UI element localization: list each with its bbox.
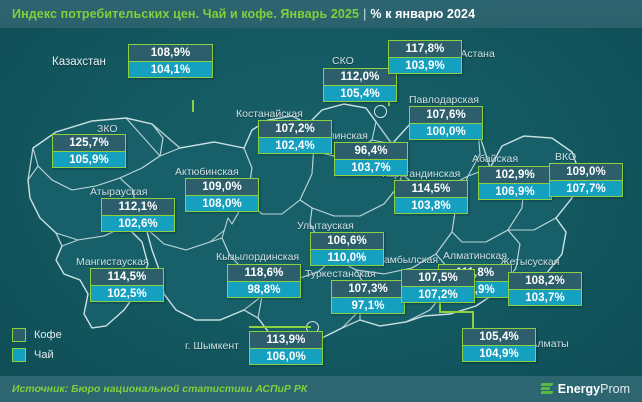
coffee-value-turkestan: 107,3% <box>332 281 404 297</box>
logo-bold-text: Energy <box>558 382 600 396</box>
connector-almaty-h <box>439 311 473 313</box>
legend-label-tea: Чай <box>34 349 54 361</box>
coffee-value-abai: 102,9% <box>479 167 551 183</box>
infographic-root: Индекс потребительских цен. Чай и кофе. … <box>0 0 642 402</box>
tea-value-mangistau: 102,5% <box>91 285 163 301</box>
tea-value-kazakhstan: 104,1% <box>129 61 212 77</box>
value-box-zhambyl[interactable]: 107,5% 107,2% <box>401 269 475 303</box>
tea-value-abai: 106,9% <box>479 183 551 199</box>
label-aktobe: Актюбинская <box>175 166 239 178</box>
value-box-shymkent[interactable]: 113,9% 106,0% <box>249 331 323 365</box>
coffee-value-aktobe: 109,0% <box>186 179 258 195</box>
legend-swatch-coffee <box>12 328 26 342</box>
label-mangistau: Мангистауская <box>76 256 149 268</box>
kazakhstan-map <box>0 28 642 376</box>
tea-value-zko: 105,9% <box>53 151 125 167</box>
value-box-zhetysu[interactable]: 108,2% 103,7% <box>508 272 582 306</box>
label-turkestan: Туркестанская <box>305 268 376 280</box>
tea-value-turkestan: 97,1% <box>332 297 404 313</box>
value-box-ulytau[interactable]: 106,6% 110,0% <box>310 232 384 266</box>
title-subtitle: % к январю 2024 <box>370 7 475 21</box>
tea-value-atyrau: 102,6% <box>102 215 174 231</box>
label-pavlodar: Павлодарская <box>409 94 479 106</box>
label-ulytau: Улытауская <box>297 220 354 232</box>
value-box-karaganda[interactable]: 114,5% 103,8% <box>394 180 468 214</box>
coffee-value-kazakhstan: 108,9% <box>129 45 212 61</box>
tea-value-kyzylorda: 98,8% <box>228 281 300 297</box>
label-abai: Абайская <box>472 153 518 165</box>
label-sko: СКО <box>332 55 354 67</box>
tea-value-pavlodar: 100,0% <box>410 123 482 139</box>
label-kostanay: Костанайская <box>236 108 303 120</box>
tea-value-almaty-city: 104,9% <box>463 345 535 361</box>
coffee-value-ulytau: 106,6% <box>311 233 383 249</box>
map-area: Казахстан ЗКО Атырауская Актюбинская Ман… <box>0 28 642 376</box>
coffee-value-sko: 112,0% <box>324 69 396 85</box>
coffee-value-kyzylorda: 118,6% <box>228 265 300 281</box>
value-box-sko[interactable]: 112,0% 105,4% <box>323 68 397 102</box>
legend-swatch-tea <box>12 348 26 362</box>
coffee-value-zko: 125,7% <box>53 135 125 151</box>
title-main: Индекс потребительских цен. Чай и кофе. … <box>12 7 359 21</box>
value-box-turkestan[interactable]: 107,3% 97,1% <box>331 280 405 314</box>
coffee-value-atyrau: 112,1% <box>102 199 174 215</box>
tea-value-ulytau: 110,0% <box>311 249 383 265</box>
coffee-value-mangistau: 114,5% <box>91 269 163 285</box>
value-box-kostanay[interactable]: 107,2% 102,4% <box>258 120 332 154</box>
source-note: Источник: Бюро национальной статистики А… <box>0 383 307 395</box>
label-vko: ВКО <box>555 151 576 163</box>
value-box-kyzylorda[interactable]: 118,6% 98,8% <box>227 264 301 298</box>
coffee-value-almaty-city: 105,4% <box>463 329 535 345</box>
coffee-value-zhetysu: 108,2% <box>509 273 581 289</box>
value-box-pavlodar[interactable]: 107,6% 100,0% <box>409 106 483 140</box>
page-title: Индекс потребительских цен. Чай и кофе. … <box>0 7 475 21</box>
coffee-value-zhambyl: 107,5% <box>402 270 474 286</box>
value-box-astana[interactable]: 117,8% 103,9% <box>388 40 462 74</box>
coffee-value-akmola: 96,4% <box>335 143 407 159</box>
coffee-value-kostanay: 107,2% <box>259 121 331 137</box>
tea-value-kostanay: 102,4% <box>259 137 331 153</box>
tea-value-astana: 103,9% <box>389 57 461 73</box>
coffee-value-vko: 109,0% <box>550 164 622 180</box>
value-box-almaty-city[interactable]: 105,4% 104,9% <box>462 328 536 362</box>
connector-kazakhstan <box>192 100 194 112</box>
energyprom-logo[interactable]: EnergyProm <box>540 382 642 396</box>
coffee-value-shymkent: 113,9% <box>250 332 322 348</box>
coffee-value-pavlodar: 107,6% <box>410 107 482 123</box>
tea-value-akmola: 103,7% <box>335 159 407 175</box>
label-almaty-obl: Алматинская <box>443 250 507 262</box>
label-shymkent: г. Шымкент <box>185 340 239 352</box>
tea-value-zhambyl: 107,2% <box>402 286 474 302</box>
connector-almaty-v2 <box>472 311 474 328</box>
footer-bar: Источник: Бюро национальной статистики А… <box>0 376 642 402</box>
value-box-vko[interactable]: 109,0% 107,7% <box>549 163 623 197</box>
value-box-abai[interactable]: 102,9% 106,9% <box>478 166 552 200</box>
label-kazakhstan: Казахстан <box>52 56 106 68</box>
label-kyzylorda: Кызылординская <box>216 251 299 263</box>
tea-value-zhetysu: 103,7% <box>509 289 581 305</box>
label-atyrau: Атырауская <box>90 186 147 198</box>
legend-label-coffee: Кофе <box>34 329 62 341</box>
tea-value-sko: 105,4% <box>324 85 396 101</box>
value-box-mangistau[interactable]: 114,5% 102,5% <box>90 268 164 302</box>
tea-value-karaganda: 103,8% <box>395 197 467 213</box>
logo-light-text: Prom <box>600 382 630 396</box>
legend-item-coffee: Кофе <box>12 328 62 342</box>
value-box-akmola[interactable]: 96,4% 103,7% <box>334 142 408 176</box>
header-bar: Индекс потребительских цен. Чай и кофе. … <box>0 0 642 28</box>
energyprom-wordmark: EnergyProm <box>558 382 630 396</box>
legend: Кофе Чай <box>12 328 62 368</box>
connector-shymkent-h <box>249 326 311 328</box>
tea-value-aktobe: 108,0% <box>186 195 258 211</box>
tea-value-shymkent: 106,0% <box>250 348 322 364</box>
value-box-atyrau[interactable]: 112,1% 102,6% <box>101 198 175 232</box>
city-marker-astana <box>374 105 387 118</box>
coffee-value-karaganda: 114,5% <box>395 181 467 197</box>
coffee-value-astana: 117,8% <box>389 41 461 57</box>
value-box-kazakhstan[interactable]: 108,9% 104,1% <box>128 44 213 78</box>
legend-item-tea: Чай <box>12 348 62 362</box>
energyprom-mark-icon <box>540 382 554 396</box>
value-box-zko[interactable]: 125,7% 105,9% <box>52 134 126 168</box>
tea-value-vko: 107,7% <box>550 180 622 196</box>
title-separator: | <box>359 7 370 21</box>
value-box-aktobe[interactable]: 109,0% 108,0% <box>185 178 259 212</box>
